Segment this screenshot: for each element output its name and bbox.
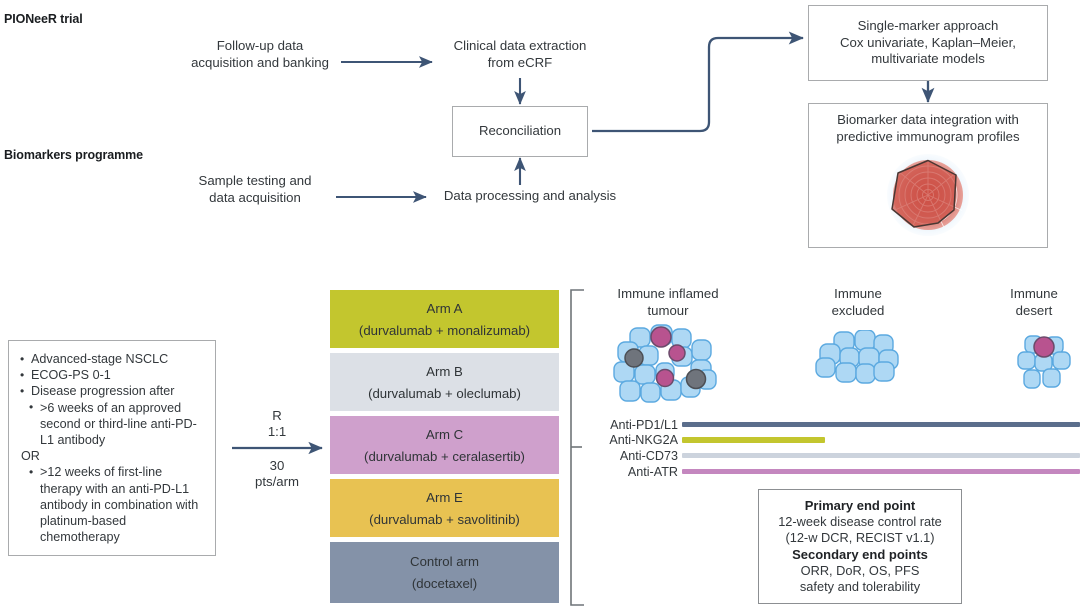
- arm-drugs-label: (durvalumab + monalizumab): [359, 323, 530, 338]
- arm-label: Control arm: [410, 554, 479, 569]
- tumour-cluster-inflamed-icon: [608, 322, 732, 408]
- target-bar-anti-nkg2a: [682, 437, 825, 443]
- randomisation-size-label: 30 pts/arm: [240, 458, 314, 490]
- arm-label: Arm E: [426, 490, 463, 505]
- eligibility-criteria-box: Advanced-stage NSCLC ECOG-PS 0-1 Disease…: [8, 340, 216, 556]
- treatment-arm-c[interactable]: Arm C (durvalumab + ceralasertib): [330, 416, 559, 474]
- pioneer-trial-title: PIONeeR trial: [4, 12, 83, 26]
- arm-drugs-label: (durvalumab + ceralasertib): [364, 449, 525, 464]
- arm-drugs-label: (durvalumab + savolitinib): [369, 512, 520, 527]
- list-item: ECOG-PS 0-1: [19, 367, 206, 383]
- reconciliation-box: Reconciliation: [452, 106, 588, 157]
- eligibility-sublist-first: >6 weeks of an approved second or third-…: [29, 400, 206, 449]
- eligibility-or-label: OR: [19, 448, 206, 464]
- secondary-endpoint-text: ORR, DoR, OS, PFS safety and tolerabilit…: [800, 563, 920, 595]
- primary-endpoint-text: 12-week disease control rate (12-w DCR, …: [778, 514, 942, 546]
- arm-label: Arm A: [427, 301, 463, 316]
- clinical-extraction-label: Clinical data extraction from eCRF: [440, 38, 600, 71]
- eligibility-sublist-second: >12 weeks of first-line therapy with an …: [29, 464, 206, 545]
- followup-data-label: Follow-up data acquisition and banking: [180, 38, 340, 71]
- treatment-arm-e[interactable]: Arm E (durvalumab + savolitinib): [330, 479, 559, 537]
- target-label-anti-atr: Anti-ATR: [596, 465, 678, 479]
- single-marker-box: Single-marker approach Cox univariate, K…: [808, 5, 1048, 81]
- sample-testing-label: Sample testing and data acquisition: [175, 173, 335, 206]
- tumour-cluster-excluded-icon: [812, 330, 908, 388]
- list-item: Disease progression after: [19, 383, 206, 399]
- biomarkers-programme-title: Biomarkers programme: [4, 148, 143, 162]
- phenotype-label-desert: Immune desert: [988, 286, 1080, 319]
- immunogram-radar-icon: [876, 147, 980, 243]
- list-item: Advanced-stage NSCLC: [19, 351, 206, 367]
- reconciliation-label: Reconciliation: [479, 123, 561, 140]
- arm-drugs-label: (docetaxel): [412, 576, 477, 591]
- endpoints-box: Primary end point 12-week disease contro…: [758, 489, 962, 604]
- treatment-arm-control[interactable]: Control arm (docetaxel): [330, 542, 559, 603]
- treatment-arm-b[interactable]: Arm B (durvalumab + oleclumab): [330, 353, 559, 411]
- secondary-endpoint-heading: Secondary end points: [792, 547, 928, 564]
- phenotype-label-excluded: Immune excluded: [800, 286, 916, 319]
- list-item: >12 weeks of first-line therapy with an …: [29, 464, 206, 545]
- target-bar-anti-atr: [682, 469, 1080, 474]
- arm-label: Arm C: [426, 427, 463, 442]
- target-label-anti-cd73: Anti-CD73: [596, 449, 678, 463]
- arm-label: Arm B: [426, 364, 463, 379]
- randomisation-ratio-label: R 1:1: [240, 408, 314, 440]
- primary-endpoint-heading: Primary end point: [805, 498, 916, 515]
- target-bar-anti-pd1l1: [682, 422, 1080, 427]
- tumour-cluster-desert-icon: [1014, 330, 1076, 392]
- target-label-anti-pd1l1: Anti-PD1/L1: [596, 418, 678, 432]
- phenotype-label-inflamed: Immune inflamed tumour: [598, 286, 738, 319]
- biomarker-integration-box: Biomarker data integration with predicti…: [808, 103, 1048, 248]
- target-label-anti-nkg2a: Anti-NKG2A: [596, 433, 678, 447]
- target-bar-anti-cd73: [682, 453, 1080, 458]
- eligibility-list: Advanced-stage NSCLC ECOG-PS 0-1 Disease…: [19, 351, 206, 400]
- data-processing-label: Data processing and analysis: [430, 188, 630, 205]
- treatment-arm-a[interactable]: Arm A (durvalumab + monalizumab): [330, 290, 559, 348]
- biomarker-integration-label: Biomarker data integration with predicti…: [836, 112, 1019, 145]
- list-item: >6 weeks of an approved second or third-…: [29, 400, 206, 449]
- single-marker-label: Single-marker approach Cox univariate, K…: [840, 18, 1016, 68]
- arm-drugs-label: (durvalumab + oleclumab): [368, 386, 521, 401]
